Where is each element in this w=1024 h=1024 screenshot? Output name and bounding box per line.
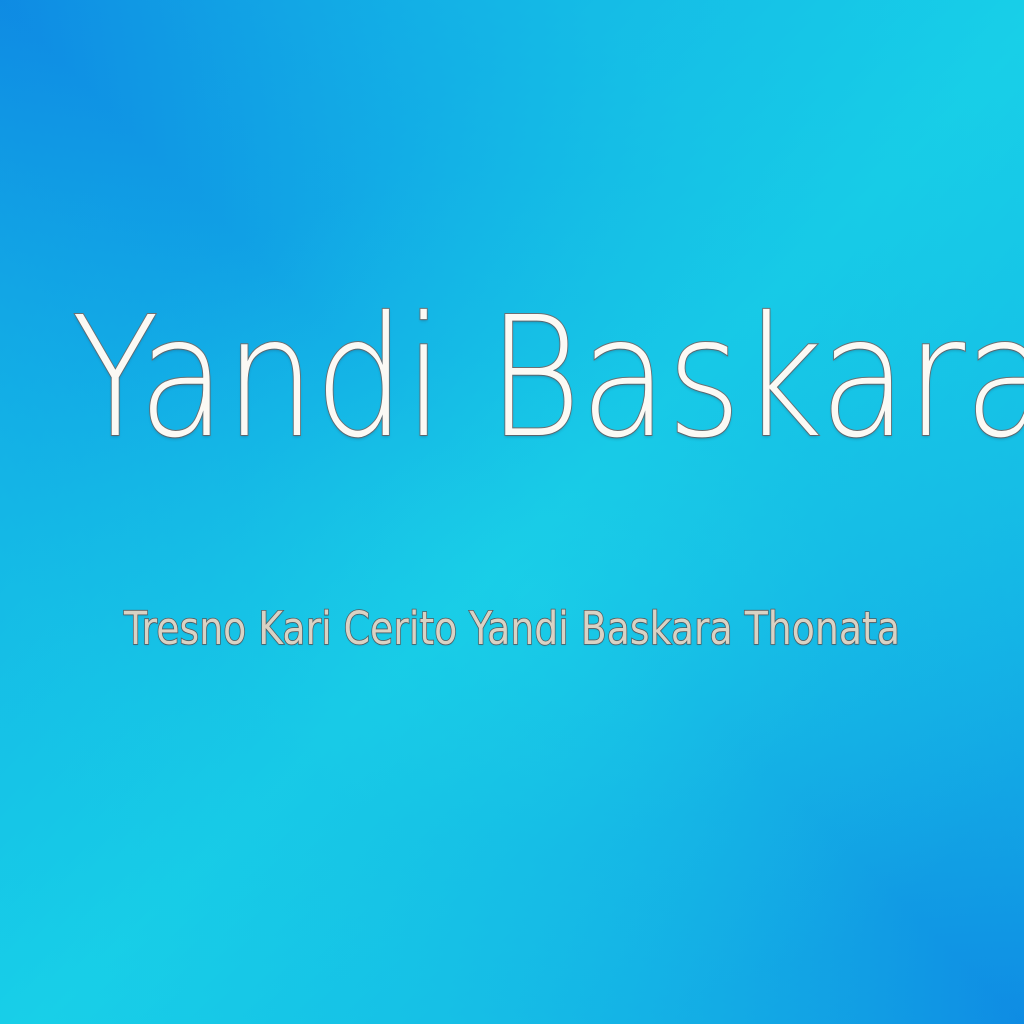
artist-name-title: Yandi Baskara — [72, 296, 953, 462]
track-title-subtitle: Tresno Kari Cerito Yandi Baskara Thonata — [82, 606, 942, 651]
cover-text-layer: Yandi Baskara Tresno Kari Cerito Yandi B… — [0, 0, 1024, 1024]
album-cover-art: Yandi Baskara Tresno Kari Cerito Yandi B… — [0, 0, 1024, 1024]
